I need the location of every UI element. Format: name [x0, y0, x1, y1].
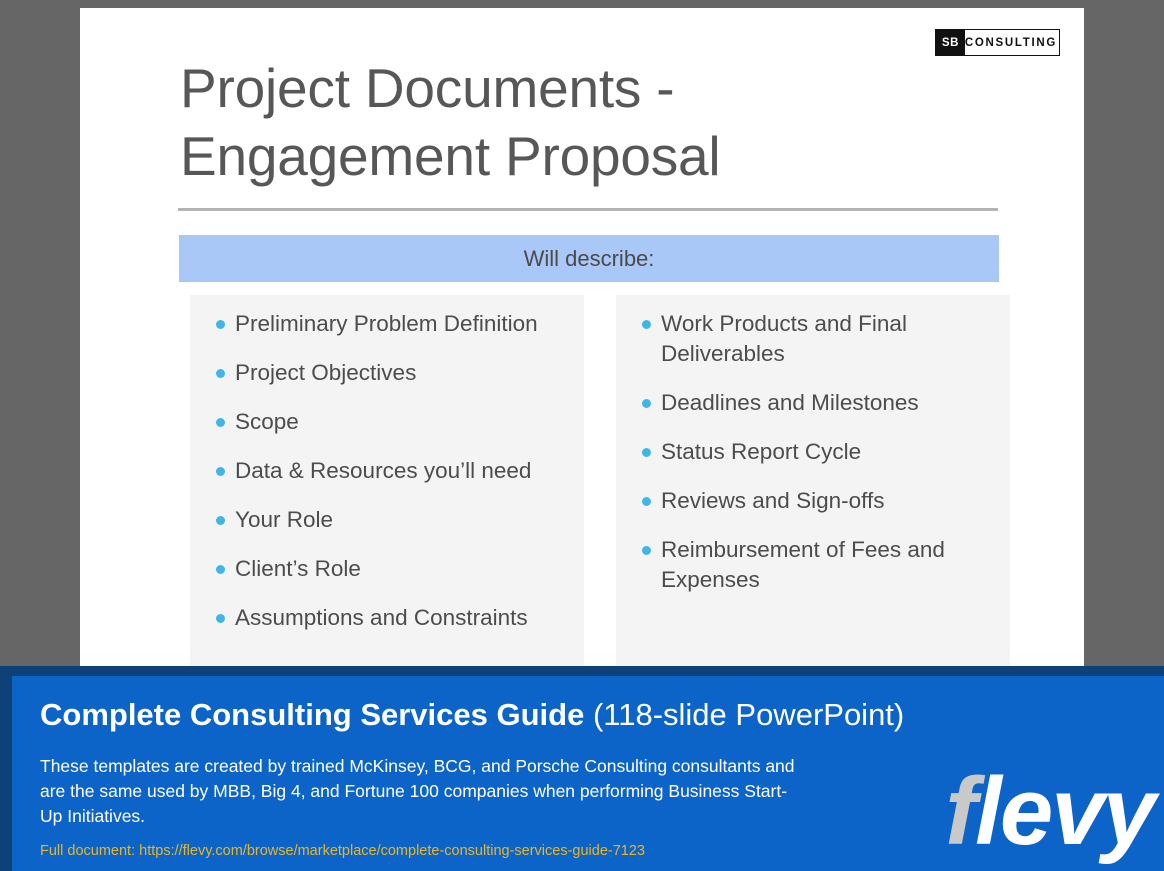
list-item: Preliminary Problem Definition [208, 309, 566, 339]
bullet-columns: Preliminary Problem Definition Project O… [190, 295, 1010, 666]
brand-word-consulting: CONSULTING [965, 30, 1059, 55]
list-item: Client’s Role [208, 554, 566, 584]
list-item: Assumptions and Constraints [208, 603, 566, 633]
promo-document-link[interactable]: Full document: https://flevy.com/browse/… [40, 842, 645, 860]
list-item: Work Products and Final Deliverables [634, 309, 992, 369]
list-item: Data & Resources you’ll need [208, 456, 566, 486]
list-item: Reviews and Sign-offs [634, 486, 992, 516]
flevy-logo-f: f [945, 758, 975, 865]
flevy-logo: flevy [945, 764, 1154, 860]
flevy-promo-panel: Complete Consulting Services Guide (118-… [12, 676, 1164, 871]
page-title: Project Documents - Engagement Proposal [180, 54, 880, 190]
will-describe-banner: Will describe: [179, 235, 999, 282]
slide-canvas: SB CONSULTING Project Documents - Engage… [80, 8, 1084, 666]
promo-headline-subtitle: (118-slide PowerPoint) [584, 697, 904, 732]
list-item: Project Objectives [208, 358, 566, 388]
bullet-column-right: Work Products and Final Deliverables Dea… [616, 295, 1010, 666]
list-item: Your Role [208, 505, 566, 535]
promo-description: These templates are created by trained M… [40, 754, 800, 829]
list-item: Scope [208, 407, 566, 437]
flevy-promo-footer: Complete Consulting Services Guide (118-… [0, 666, 1164, 871]
promo-headline: Complete Consulting Services Guide (118-… [40, 696, 904, 734]
bullet-list-right: Work Products and Final Deliverables Dea… [634, 309, 992, 595]
bullet-list-left: Preliminary Problem Definition Project O… [208, 309, 566, 633]
bullet-column-left: Preliminary Problem Definition Project O… [190, 295, 584, 666]
list-item: Deadlines and Milestones [634, 388, 992, 418]
sb-consulting-logo: SB CONSULTING [935, 29, 1060, 56]
list-item: Status Report Cycle [634, 437, 992, 467]
brand-mark-sb: SB [936, 30, 965, 55]
list-item: Reimbursement of Fees and Expenses [634, 535, 992, 595]
will-describe-label: Will describe: [524, 246, 655, 272]
promo-headline-title: Complete Consulting Services Guide [40, 697, 584, 732]
flevy-logo-levy: levy [975, 758, 1154, 865]
title-divider [178, 208, 998, 211]
